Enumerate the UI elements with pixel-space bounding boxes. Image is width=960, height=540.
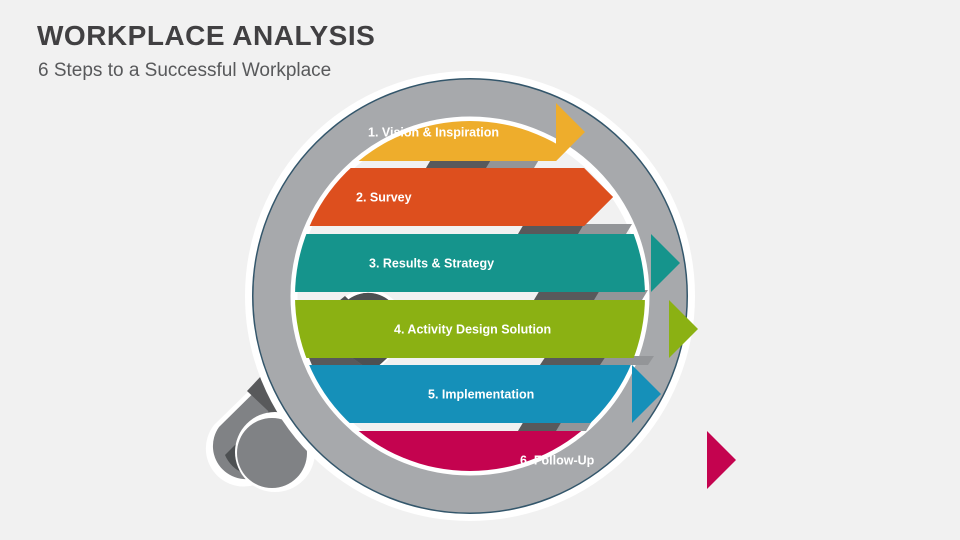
step-arrow-label: 3. Results & Strategy	[369, 256, 494, 270]
step-arrow-3[interactable]: 3. Results & Strategy	[250, 234, 680, 292]
step-arrow-4[interactable]: 4. Activity Design Solution	[250, 300, 698, 358]
step-arrow-label: 5. Implementation	[428, 387, 534, 401]
step-arrow-head	[707, 431, 736, 489]
step-arrow-label: 2. Survey	[356, 190, 412, 204]
slide-canvas: WORKPLACE ANALYSIS 6 Steps to a Successf…	[0, 0, 960, 540]
step-arrow-label: 4. Activity Design Solution	[394, 322, 551, 336]
step-arrow-label: 6. Follow-Up	[520, 453, 595, 467]
step-arrow-label: 1. Vision & Inspiration	[368, 125, 499, 139]
magnifying-glass-process-graphic: 1. Vision & Inspiration2. Survey3. Resul…	[0, 0, 960, 540]
